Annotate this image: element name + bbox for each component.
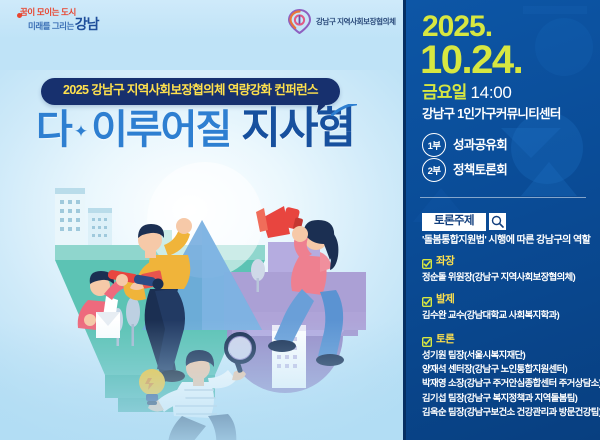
decor-bar [523, 6, 587, 14]
decor-triangle-down [501, 128, 561, 158]
panel-divider [420, 197, 586, 198]
star-icon: ✦ [74, 122, 88, 142]
topic-tag: 토론주제 [422, 213, 486, 231]
section-chair-title: 좌장 [436, 256, 454, 267]
event-venue: 강남구 1인가구커뮤니티센터 [422, 108, 561, 121]
conference-poster: 꿈이 모이는 도시 미래를 그리는 강남 강남구 지역사회보장협의체 2025 … [0, 0, 600, 440]
section-chair: 좌장 정순돌 위원장(강남구 지역사회보장협의체) [422, 256, 575, 284]
session-1-label: 성과공유회 [453, 139, 507, 152]
checkbox-icon [422, 294, 432, 304]
headline-part1: 다 [36, 110, 71, 150]
council-pin-icon [288, 9, 311, 34]
section-panel: 토론 성기원 팀장(서울시복지재단) 양재석 센터장(강남구 노인통합지원센터)… [422, 334, 600, 420]
gangnam-logo-line2-big: 강남 [75, 18, 99, 31]
session-1: 1부 성과공유회 [422, 133, 507, 157]
section-presenter-title: 발제 [436, 294, 454, 305]
decor-circle-top [535, 18, 593, 76]
panel-item: 김기섭 팀장(강남구 복지정책과 지역돌봄팀) [422, 391, 600, 405]
topic-text: '돌봄통합지원법' 시행에 따른 강남구의 역할 [422, 236, 590, 246]
panel-item: 성기원 팀장(서울시복지재단) [422, 348, 600, 362]
event-daytime: 금요일 14:00 [422, 84, 512, 101]
conference-subtitle-bubble: 2025 강남구 지역사회보장협의체 역량강화 컨퍼런스 [41, 78, 340, 105]
session-1-badge: 1부 [422, 133, 446, 157]
session-2-label: 정책토론회 [453, 164, 507, 177]
poster-headline: 다 ✦ 이루어질 지사협 [36, 108, 354, 151]
section-presenter: 발제 김수완 교수(강남대학교 사회복지학과) [422, 294, 559, 322]
panel-left-edge [403, 0, 406, 440]
info-panel: 2025. 10.24. 금요일 14:00 강남구 1인가구커뮤니티센터 1부… [403, 0, 600, 440]
gangnam-city-logo: 꿈이 모이는 도시 미래를 그리는 강남 [14, 8, 106, 31]
headline-swoosh-icon [331, 103, 357, 115]
search-icon [489, 213, 506, 230]
panel-item: 김옥순 팀장(강남구보건소 건강관리과 방문건강팀) [422, 405, 600, 419]
decor-triangle-up [521, 162, 577, 196]
headline-part2: 이루어질 [91, 110, 230, 150]
section-panel-title: 토론 [436, 334, 454, 345]
session-2-badge: 2부 [422, 158, 446, 182]
panel-item: 박재영 소장(강남구 주거안심종합센터 주거상담소) [422, 376, 600, 390]
session-2: 2부 정책토론회 [422, 158, 507, 182]
event-time: 14:00 [471, 84, 512, 101]
chair-item: 정순돌 위원장(강남구 지역사회보장협의체) [422, 270, 575, 284]
checkbox-icon [422, 334, 432, 344]
gangnam-logo-dot [17, 13, 22, 18]
topic-header: 토론주제 [422, 213, 506, 231]
event-day: 금요일 [422, 84, 467, 101]
background-bottom-wash [0, 320, 410, 440]
checkbox-icon [422, 256, 432, 266]
gangnam-logo-line2-small: 미래를 그리는 [28, 22, 74, 31]
council-logo-label: 강남구 지역사회보장협의체 [316, 16, 396, 27]
event-date: 10.24. [420, 40, 522, 80]
presenter-item: 김수완 교수(강남대학교 사회복지학과) [422, 308, 559, 322]
council-logo: 강남구 지역사회보장협의체 [288, 9, 396, 34]
panel-item: 양재석 센터장(강남구 노인통합지원센터) [422, 362, 600, 376]
conference-subtitle: 2025 강남구 지역사회보장협의체 역량강화 컨퍼런스 [63, 84, 318, 98]
